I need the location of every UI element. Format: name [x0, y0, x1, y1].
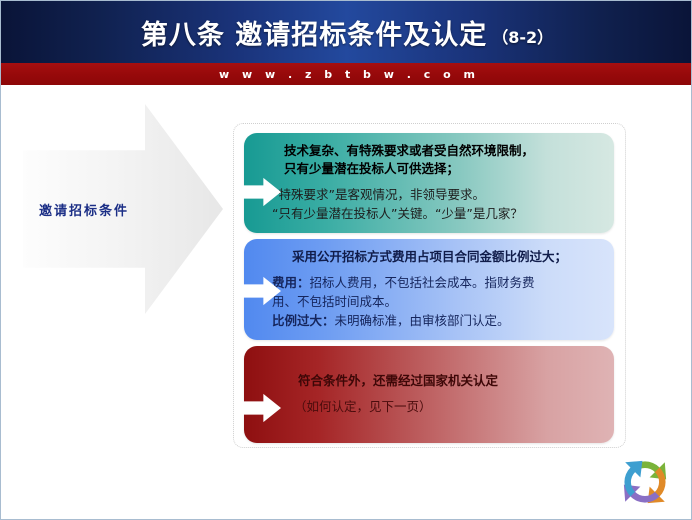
url-band: w w w . z b t b w . c o m: [1, 63, 692, 85]
condition-box-technical-content: 技术复杂、有特殊要求或者受自然环境限制， 只有少量潜在投标人可供选择； “特殊要…: [272, 133, 606, 233]
slide-canvas: 第八条 邀请招标条件及认定（8-2） w w w . z b t b w . c…: [0, 0, 692, 520]
condition-box-approval[interactable]: 符合条件外，还需经过国家机关认定 （如何认定，见下一页）: [244, 346, 614, 443]
condition-box-approval-body: （如何认定，见下一页）: [294, 398, 606, 417]
condition-box-cost[interactable]: 采用公开招标方式费用占项目合同金额比例过大； 费用：招标人费用，不包括社会成本。…: [244, 239, 614, 340]
page-title-main: 第八条 邀请招标条件及认定: [141, 13, 487, 52]
cycle-arrows-logo: [609, 449, 681, 515]
condition-box-cost-body: 费用：招标人费用，不包括社会成本。指财务费 用、不包括时间成本。比例过大：未明确…: [272, 274, 606, 330]
cost-desc-1: 招标人费用，不包括社会成本。指财务费 用、不包括时间成本。: [272, 275, 535, 309]
condition-box-cost-content: 采用公开招标方式费用占项目合同金额比例过大； 费用：招标人费用，不包括社会成本。…: [272, 239, 606, 340]
cost-term-1: 费用：: [272, 275, 310, 290]
cost-desc-2: 未明确标准，由审核部门认定。: [335, 313, 510, 328]
condition-box-approval-content: 符合条件外，还需经过国家机关认定 （如何认定，见下一页）: [272, 346, 606, 443]
condition-box-technical-body: “特殊要求”是客观情况，非领导要求。 “只有少量潜在投标人”关键。“少量”是几家…: [272, 186, 606, 224]
page-title-suffix: （8-2）: [492, 24, 553, 48]
condition-box-technical-heading: 技术复杂、有特殊要求或者受自然环境限制， 只有少量潜在投标人可供选择；: [284, 142, 606, 178]
cost-term-2: 比例过大：: [272, 313, 335, 328]
condition-box-approval-heading: 符合条件外，还需经过国家机关认定: [298, 372, 606, 390]
page-title: 第八条 邀请招标条件及认定（8-2）: [1, 1, 692, 63]
condition-box-cost-heading: 采用公开招标方式费用占项目合同金额比例过大；: [292, 248, 606, 266]
left-chevron-label: 邀请招标条件: [23, 104, 145, 314]
website-url: w w w . z b t b w . c o m: [215, 68, 480, 81]
condition-box-technical[interactable]: 技术复杂、有特殊要求或者受自然环境限制， 只有少量潜在投标人可供选择； “特殊要…: [244, 133, 614, 233]
